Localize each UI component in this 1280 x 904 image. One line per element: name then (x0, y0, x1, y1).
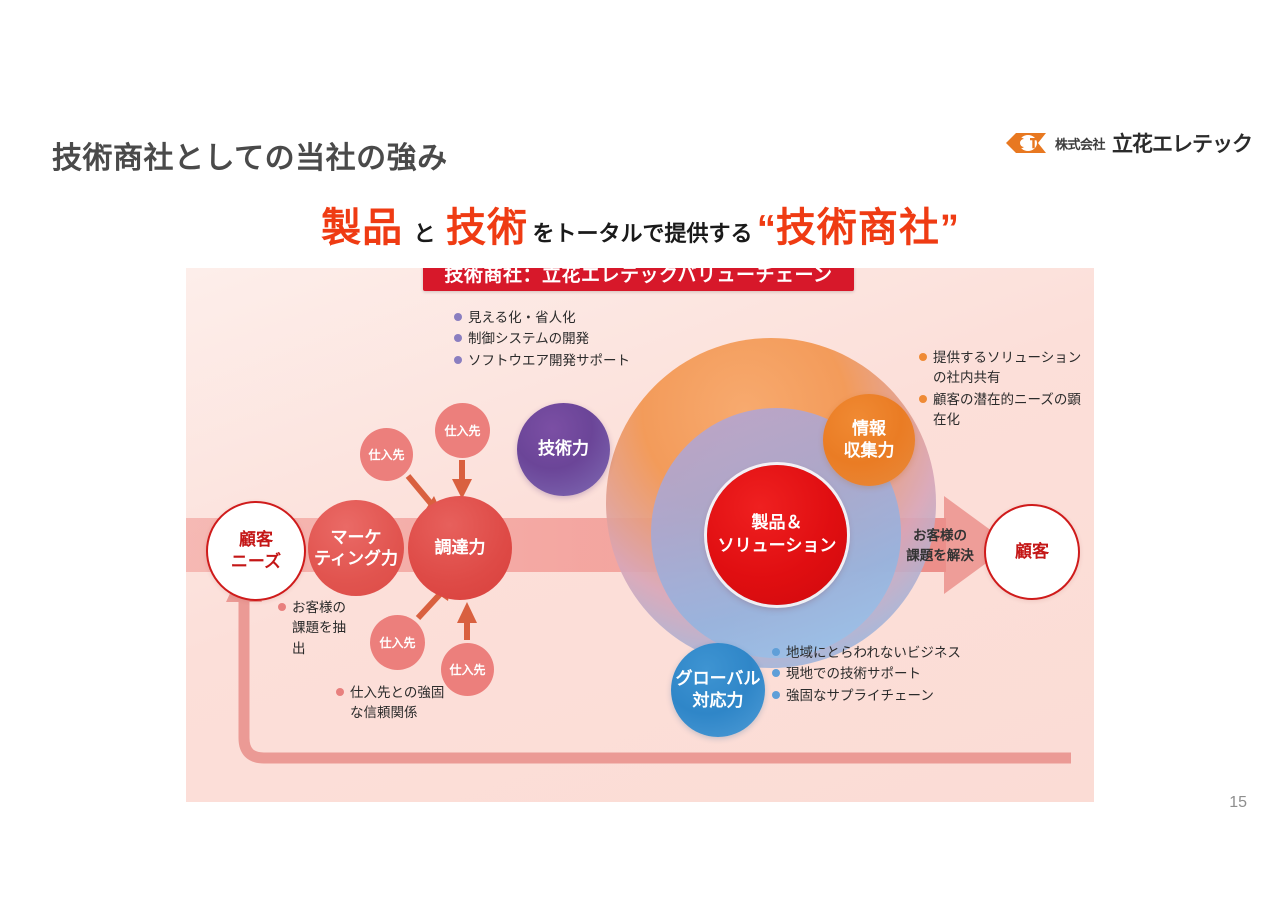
core-label: 製品＆ソリューション (718, 512, 837, 558)
bullet-dot-icon (772, 669, 780, 677)
chain-node-customer-needs-label: 顧客ニーズ (231, 529, 281, 573)
bullet-dot-icon (278, 603, 286, 611)
capability-technology-label: 技術力 (538, 438, 589, 460)
bullet-dot-icon (454, 356, 462, 364)
chain-node-marketing-label: マーケティング力 (314, 527, 398, 570)
supplier-node: 仕入先 (370, 615, 425, 670)
supplier-node: 仕入先 (360, 428, 413, 481)
list-item: お客様の課題を抽出 (278, 598, 358, 659)
bullets-supplier: 仕入先との強固な信頼関係 (336, 683, 455, 725)
list-item: ソフトウエア開発サポート (454, 351, 630, 371)
bullets-information: 提供するソリューションの社内共有 顧客の潜在的ニーズの顕在化 (919, 348, 1083, 431)
supplier-label: 仕入先 (379, 634, 415, 651)
bullets-customer: お客様の課題を抽出 (278, 598, 358, 660)
chain-node-procurement[interactable]: 調達力 (408, 496, 512, 600)
arrow-label-line2: 課題を解決 (906, 548, 974, 563)
chain-node-customer-needs[interactable]: 顧客ニーズ (206, 501, 306, 601)
page-number: 15 (1229, 794, 1247, 812)
supplier-node: 仕入先 (435, 403, 490, 458)
tc-arrow-logo-icon (1004, 130, 1048, 156)
capability-information-label: 情報収集力 (844, 418, 895, 462)
bullet-dot-icon (454, 334, 462, 342)
chain-node-marketing[interactable]: マーケティング力 (308, 500, 404, 596)
arrow-label-line1: お客様の (913, 528, 967, 543)
arrow-label-solve: お客様の 課題を解決 (886, 526, 994, 565)
capability-technology[interactable]: 技術力 (517, 403, 610, 496)
logo-company-name: 立花エレテック (1112, 128, 1252, 158)
bullet-dot-icon (919, 395, 927, 403)
bullet-dot-icon (336, 688, 344, 696)
bullet-dot-icon (454, 313, 462, 321)
subtitle-highlight: 技術商社 (776, 206, 940, 250)
chain-node-customer[interactable]: 顧客 (984, 504, 1080, 600)
bullet-dot-icon (919, 353, 927, 361)
list-item: 見える化・省人化 (454, 308, 630, 328)
bullet-dot-icon (772, 691, 780, 699)
company-logo: 株式会社 立花エレテック (1004, 128, 1252, 158)
subtitle-phrase: をトータルで提供する (532, 221, 752, 246)
supplier-label: 仕入先 (368, 446, 404, 463)
core-product-solution-circle: 製品＆ソリューション (707, 465, 847, 605)
capability-global-label: グローバル対応力 (676, 668, 761, 712)
list-item: 現地での技術サポート (772, 664, 961, 684)
list-item: 強固なサプライチェーン (772, 686, 961, 706)
list-item: 顧客の潜在的ニーズの顕在化 (919, 390, 1083, 431)
page-title: 技術商社としての当社の強み (52, 133, 448, 177)
bullets-technology: 見える化・省人化 制御システムの開発 ソフトウエア開発サポート (454, 308, 630, 372)
logo-company-prefix: 株式会社 (1055, 134, 1105, 153)
chain-node-procurement-label: 調達力 (435, 537, 486, 558)
list-item: 制御システムの開発 (454, 329, 630, 349)
list-item: 仕入先との強固な信頼関係 (336, 683, 455, 724)
subtitle-quote-close: ” (940, 208, 959, 250)
capability-information[interactable]: 情報収集力 (823, 394, 915, 486)
subtitle: 製品 と 技術 をトータルで提供する “技術商社” (0, 195, 1280, 253)
value-chain-diagram: 製品＆ソリューション 技術力 情報収集力 グローバル対応力 仕入先 仕入先 仕入… (186, 268, 1094, 802)
chain-node-customer-label: 顧客 (1015, 541, 1049, 563)
supplier-label: 仕入先 (444, 422, 480, 439)
list-item: 提供するソリューションの社内共有 (919, 348, 1083, 389)
slide: 技術商社としての当社の強み 株式会社 立花エレテック 製品 と 技術 をトータル… (0, 0, 1280, 904)
subtitle-connector: と (408, 221, 442, 246)
subtitle-quote-open: “ (757, 208, 776, 250)
supplier-label: 仕入先 (449, 661, 485, 678)
diagram-banner: 技術商社：立花エレテックバリューチェーン (423, 268, 854, 291)
bullets-global: 地域にとらわれないビジネス 現地での技術サポート 強固なサプライチェーン (772, 643, 961, 707)
list-item: 地域にとらわれないビジネス (772, 643, 961, 663)
bullet-dot-icon (772, 648, 780, 656)
capability-global[interactable]: グローバル対応力 (671, 643, 765, 737)
diagram-banner-label: 技術商社：立花エレテックバリューチェーン (444, 268, 832, 287)
subtitle-word-product: 製品 (321, 206, 403, 250)
subtitle-word-technology: 技術 (446, 206, 528, 250)
